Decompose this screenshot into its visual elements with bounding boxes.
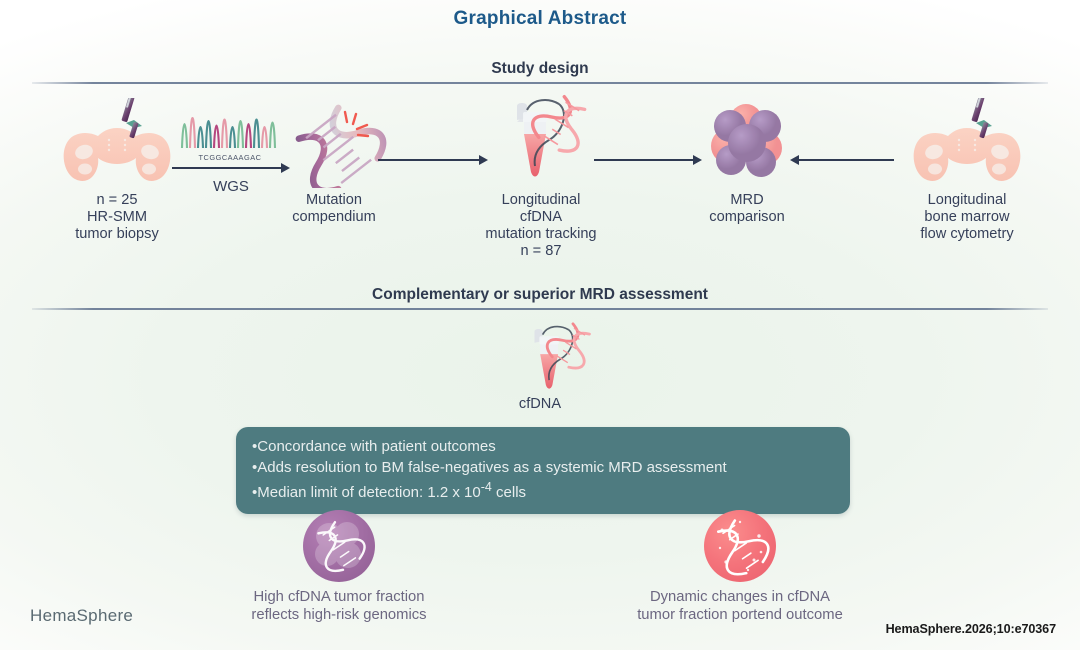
cell-cluster-dna-circle-icon [303, 510, 375, 582]
cell-cluster-icon [699, 98, 795, 188]
flow-node-compendium-label: Mutation compendium [250, 192, 418, 226]
key-findings-callout: Concordance with patient outcomes Adds r… [236, 427, 850, 514]
citation-text: HemaSphere.2026;10:e70367 [886, 622, 1056, 636]
pelvis-needle-icon [58, 98, 176, 188]
graphical-abstract-page: Graphical Abstract Study design [0, 0, 1080, 650]
flow-node-biopsy-label: n = 25 HR-SMM tumor biopsy [22, 192, 212, 243]
callout-bullet-3-post: cells [492, 484, 526, 501]
journal-brand: HemaSphere [30, 606, 133, 626]
dna-helix-mutation-icon [279, 98, 389, 188]
dna-circle-icon [704, 510, 776, 582]
callout-bullet-3-exponent: -4 [481, 480, 492, 494]
outcome-dynamic-changes: Dynamic changes in cfDNA tumor fraction … [610, 510, 870, 625]
outcome-tumor-fraction-caption: High cfDNA tumor fraction reflects high-… [218, 589, 460, 625]
page-title: Graphical Abstract [0, 8, 1080, 30]
study-design-flow: n = 25 HR-SMM tumor biopsy [0, 92, 1080, 282]
outcome-dynamic-changes-caption: Dynamic changes in cfDNA tumor fraction … [610, 589, 870, 625]
flow-node-tracking: Longitudinal cfDNA mutation tracking n =… [456, 92, 626, 260]
cfdna-tube-icon [506, 320, 602, 398]
flow-node-mrd-label: MRD comparison [672, 192, 822, 226]
flow-node-marrow: Longitudinal bone marrow flow cytometry [872, 98, 1062, 243]
pelvis-needle-icon [908, 98, 1026, 188]
flow-node-marrow-label: Longitudinal bone marrow flow cytometry [872, 192, 1062, 243]
divider-assessment [32, 308, 1048, 310]
callout-bullet-3: Median limit of detection: 1.2 x 10-4 ce… [252, 479, 834, 503]
blood-tube-dna-icon [493, 92, 589, 188]
band-title-study-design: Study design [0, 60, 1080, 78]
callout-bullet-2: Adds resolution to BM false-negatives as… [252, 457, 834, 478]
flow-node-tracking-label: Longitudinal cfDNA mutation tracking n =… [456, 192, 626, 260]
outcome-tumor-fraction: High cfDNA tumor fraction reflects high-… [218, 510, 460, 625]
callout-bullet-1: Concordance with patient outcomes [252, 436, 834, 457]
divider-study-design [32, 82, 1048, 84]
band-title-assessment: Complementary or superior MRD assessment [0, 286, 1080, 304]
cfdna-label: cfDNA [0, 396, 1080, 412]
callout-bullet-3-pre: Median limit of detection: 1.2 x 10 [257, 484, 480, 501]
